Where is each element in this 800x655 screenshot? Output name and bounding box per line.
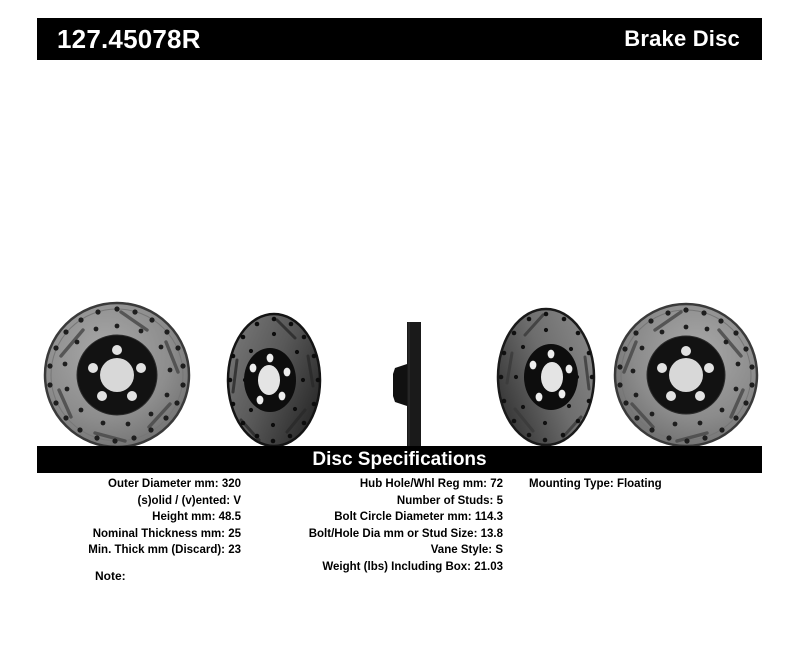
- disc-specifications-bar: Disc Specifications: [37, 446, 762, 473]
- note-field: Note:: [95, 570, 126, 582]
- spec-value: 48.5: [219, 511, 241, 523]
- spec-label: Min. Thick mm (Discard):: [88, 544, 228, 556]
- spec-label: Number of Studs:: [397, 495, 497, 507]
- spec-label: Mounting Type:: [529, 478, 617, 490]
- spec-value: 114.3: [475, 511, 503, 523]
- spec-value: 21.03: [474, 561, 503, 573]
- spec-column-middle: Hub Hole/Whl Reg mm: 72 Number of Studs:…: [255, 476, 517, 575]
- spec-label: Vane Style:: [431, 544, 496, 556]
- spec-value: 25: [228, 528, 241, 540]
- spec-row: Height mm: 48.5: [37, 509, 241, 526]
- spec-row: Min. Thick mm (Discard): 23: [37, 542, 241, 559]
- spec-label: Nominal Thickness mm:: [93, 528, 228, 540]
- spec-value: V: [233, 495, 241, 507]
- spec-row: Bolt Circle Diameter mm: 114.3: [255, 509, 503, 526]
- spec-label: Hub Hole/Whl Reg mm:: [360, 478, 490, 490]
- spec-row: Number of Studs: 5: [255, 493, 503, 510]
- spec-row: Vane Style: S: [255, 542, 503, 559]
- spec-value: 13.8: [481, 528, 503, 540]
- spec-row: Weight (lbs) Including Box: 21.03: [255, 559, 503, 576]
- spec-value: 320: [222, 478, 241, 490]
- spec-row: Nominal Thickness mm: 25: [37, 526, 241, 543]
- part-number: 127.45078R: [57, 26, 201, 52]
- spec-value: S: [495, 544, 503, 556]
- spec-label: Weight (lbs) Including Box:: [322, 561, 474, 573]
- note-label: Note:: [95, 569, 126, 583]
- title-bar: 127.45078R Brake Disc: [37, 18, 762, 60]
- spec-row: Bolt/Hole Dia mm or Stud Size: 13.8: [255, 526, 503, 543]
- spec-value: 23: [228, 544, 241, 556]
- spec-label: Height mm:: [152, 511, 218, 523]
- rotor-front-left-face: [37, 300, 197, 450]
- product-image-gallery: [37, 285, 762, 450]
- spec-value: Floating: [617, 478, 662, 490]
- specifications-table: Outer Diameter mm: 320 (s)olid / (v)ente…: [37, 476, 762, 575]
- spec-label: Bolt Circle Diameter mm:: [334, 511, 475, 523]
- rotor-angled-right: [485, 305, 607, 450]
- rotor-front-right-face: [607, 300, 765, 450]
- product-type-label: Brake Disc: [624, 28, 740, 50]
- spec-column-right: Mounting Type: Floating: [517, 476, 762, 493]
- spec-row: (s)olid / (v)ented: V: [37, 493, 241, 510]
- spec-label: (s)olid / (v)ented:: [137, 495, 233, 507]
- rotor-angled-left: [215, 310, 333, 450]
- rotor-edge-profile: [381, 320, 429, 450]
- spec-row: Mounting Type: Floating: [529, 476, 762, 493]
- disc-specifications-heading: Disc Specifications: [312, 450, 486, 469]
- spec-value: 72: [490, 478, 503, 490]
- spec-row: Outer Diameter mm: 320: [37, 476, 241, 493]
- spec-label: Bolt/Hole Dia mm or Stud Size:: [309, 528, 481, 540]
- spec-label: Outer Diameter mm:: [108, 478, 222, 490]
- spec-row: Hub Hole/Whl Reg mm: 72: [255, 476, 503, 493]
- spec-column-left: Outer Diameter mm: 320 (s)olid / (v)ente…: [37, 476, 255, 559]
- spec-value: 5: [497, 495, 503, 507]
